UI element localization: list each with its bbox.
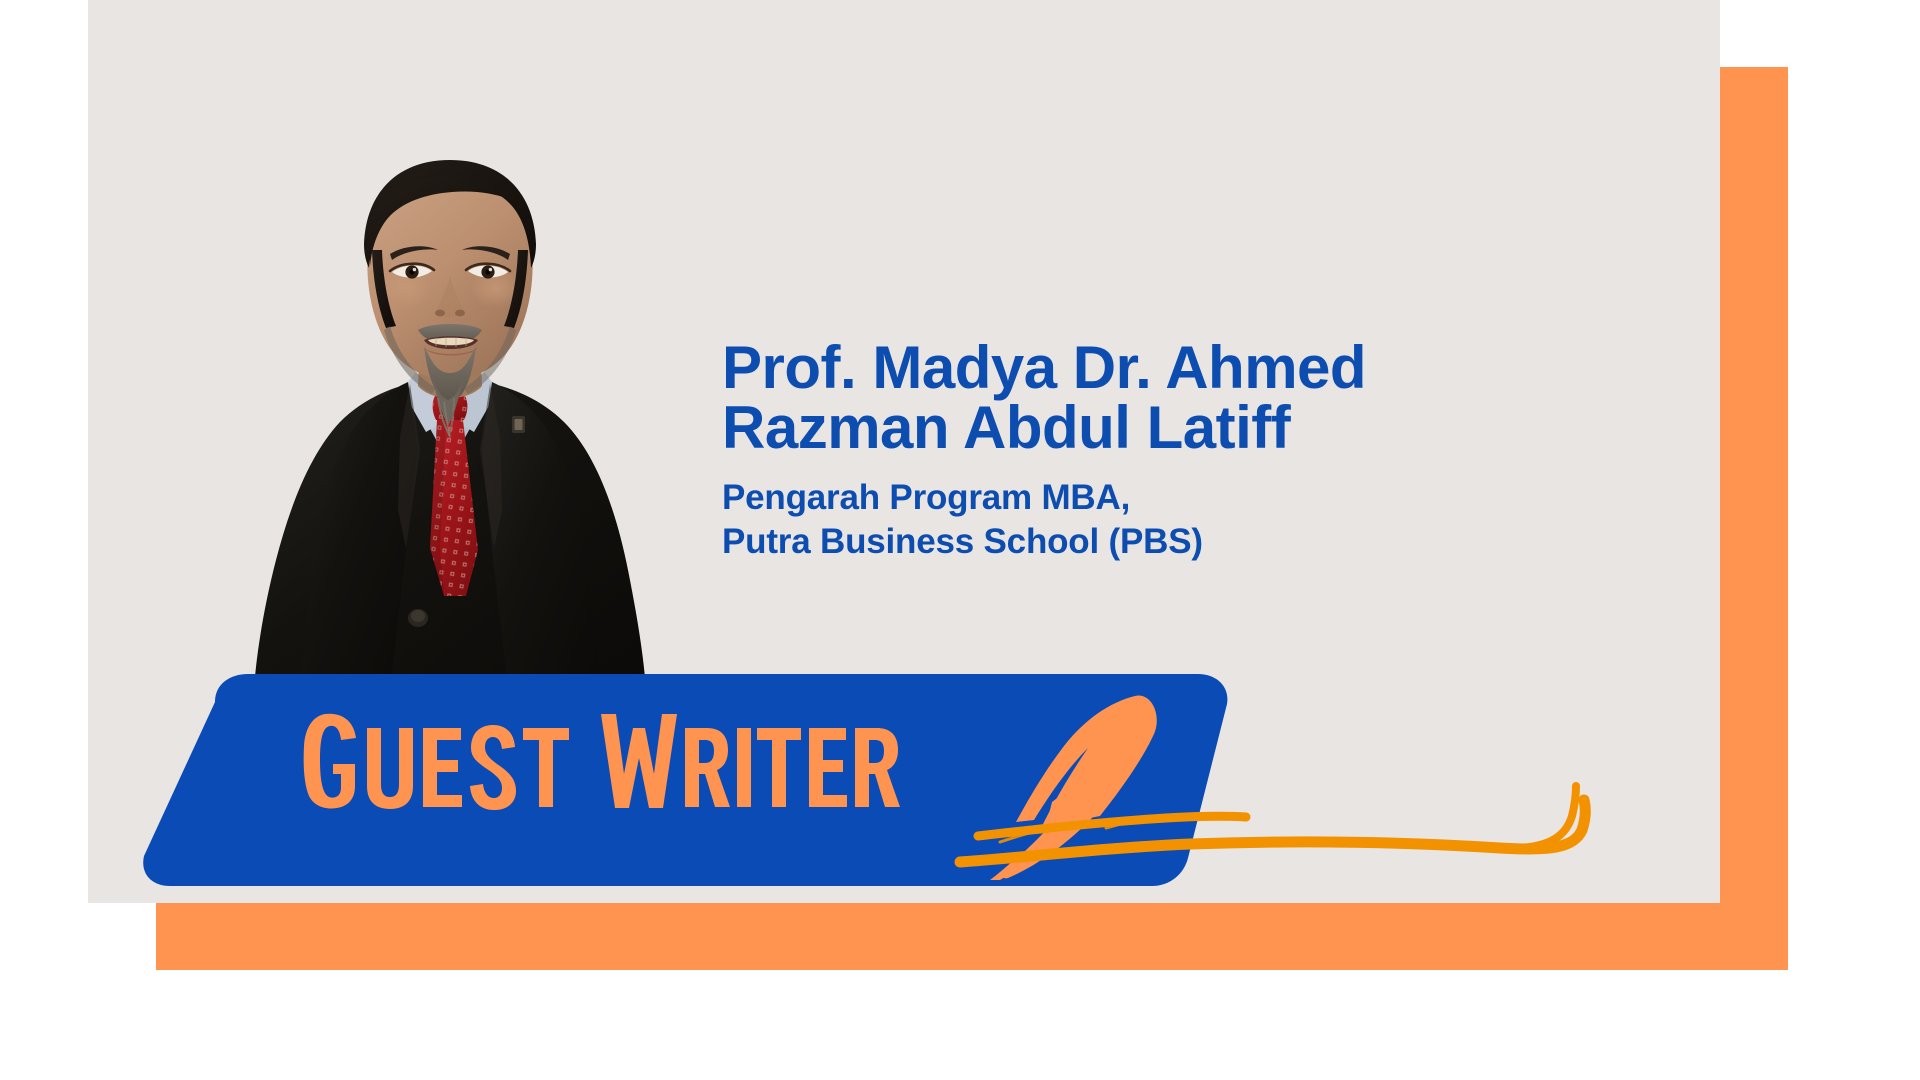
orange-accent-bar-bottom (156, 902, 1788, 970)
banner-stage: Prof. Madya Dr. Ahmed Razman Abdul Latif… (0, 0, 1920, 1080)
orange-accent-bar-right (1720, 67, 1788, 970)
speaker-name-block: Prof. Madya Dr. Ahmed Razman Abdul Latif… (722, 338, 1642, 564)
speaker-name-line-1: Prof. Madya Dr. Ahmed (722, 338, 1642, 398)
feather-quill-icon (960, 690, 1660, 880)
portrait-photo (240, 150, 660, 690)
speaker-title-line-2: Putra Business School (PBS) (722, 520, 1642, 564)
speaker-name-line-2: Razman Abdul Latiff (722, 398, 1642, 458)
speaker-title-line-1: Pengarah Program MBA, (722, 476, 1642, 520)
